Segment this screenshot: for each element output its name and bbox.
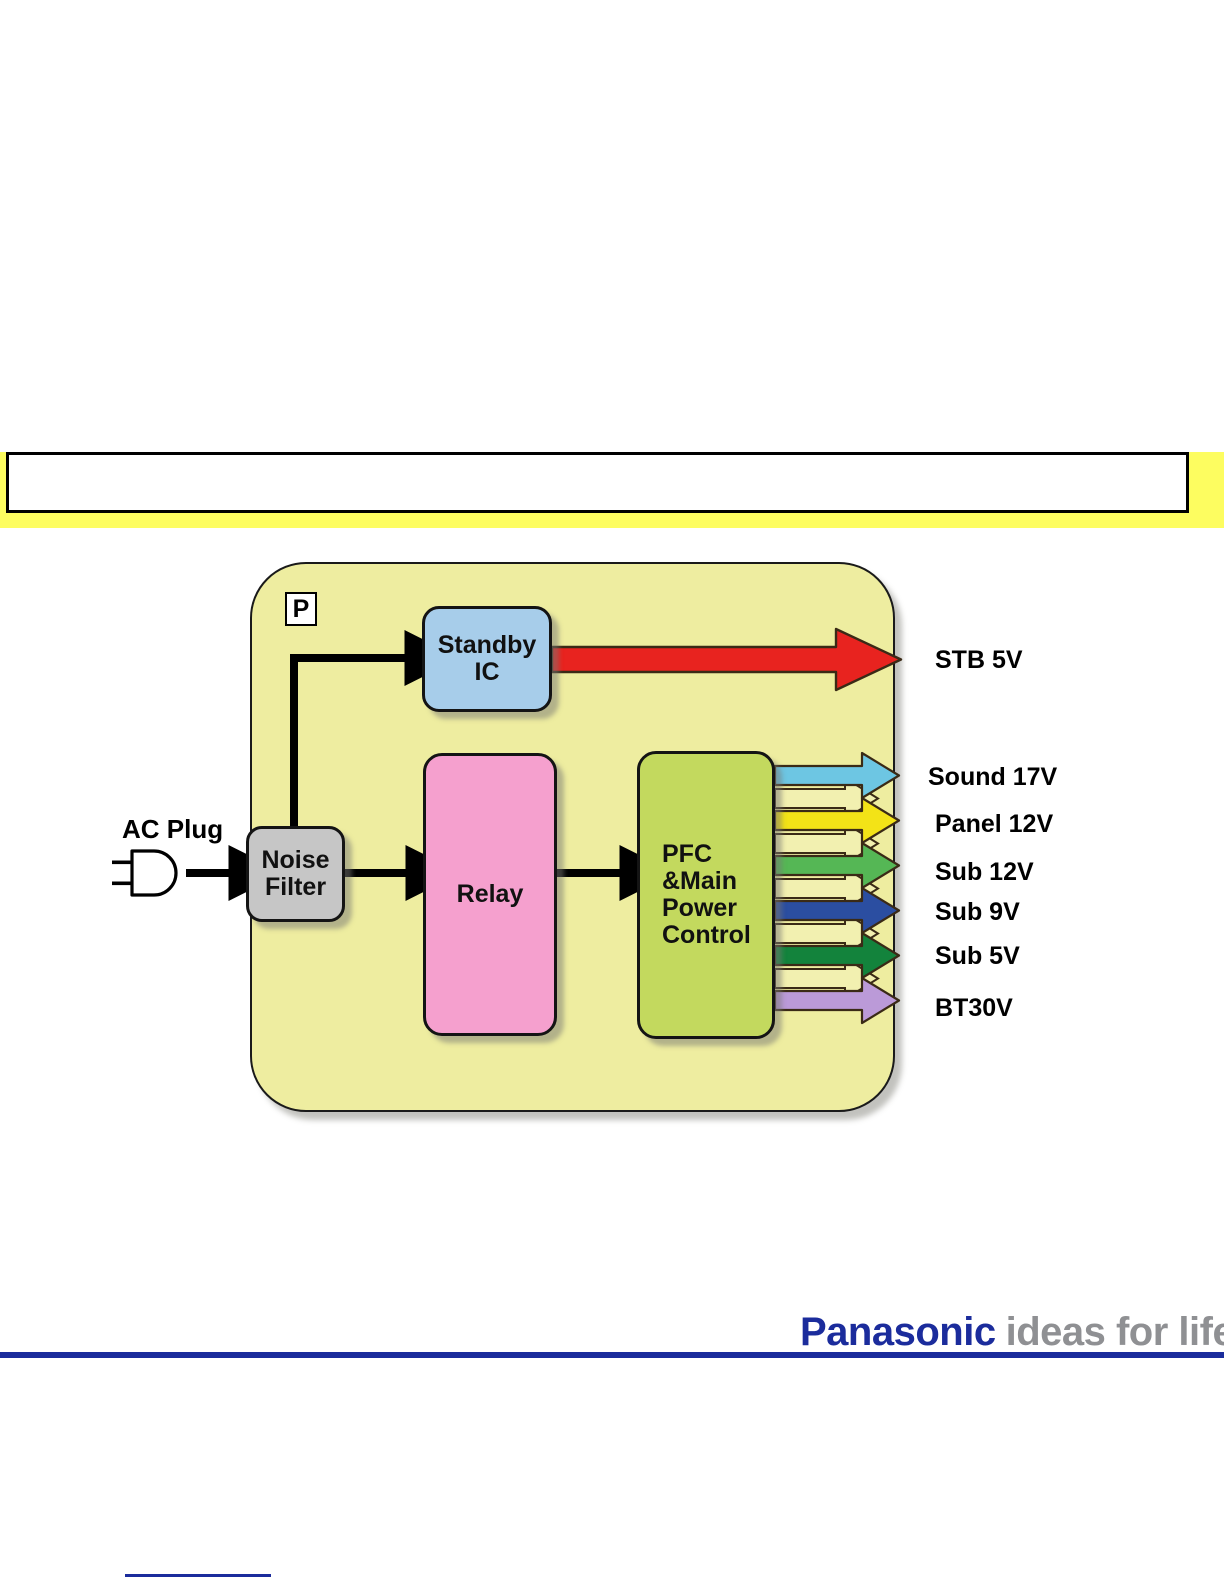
rail-label-sub-5v: Sub 5V xyxy=(935,942,1020,971)
block-standby-ic-label: Standby IC xyxy=(438,632,537,686)
rail-label-sub-12v: Sub 12V xyxy=(935,858,1034,887)
block-relay: Relay xyxy=(423,753,557,1036)
rail-label-sound-17v: Sound 17V xyxy=(928,763,1057,792)
power-board-outline xyxy=(250,562,895,1112)
block-pfc-main-power-control: PFC &Main Power Control xyxy=(637,751,775,1039)
power-supply-block-diagram: P AC Plug xyxy=(0,540,1224,1140)
block-noise-filter-label: Noise Filter xyxy=(261,847,329,901)
page-root: P AC Plug xyxy=(0,0,1224,1584)
board-designator-badge: P xyxy=(285,592,317,626)
rail-label-sub-9v: Sub 9V xyxy=(935,898,1020,927)
brand-name: Panasonic xyxy=(800,1310,996,1354)
ac-plug-label: AC Plug xyxy=(122,814,223,845)
header-title-box xyxy=(6,452,1189,513)
rail-label-bt30v: BT30V xyxy=(935,994,1013,1023)
panasonic-brand-lockup: Panasonicideas for life xyxy=(800,1310,1224,1355)
block-relay-label: Relay xyxy=(457,881,524,908)
ac-plug-icon xyxy=(110,845,188,901)
block-pfc-label: PFC &Main Power Control xyxy=(662,841,751,949)
rail-label-stb-5v: STB 5V xyxy=(935,646,1023,675)
page-bottom-tick xyxy=(125,1574,271,1577)
block-standby-ic: Standby IC xyxy=(422,606,552,712)
block-noise-filter: Noise Filter xyxy=(246,826,345,922)
rail-label-panel-12v: Panel 12V xyxy=(935,810,1053,839)
brand-tagline: ideas for life xyxy=(1006,1310,1224,1354)
